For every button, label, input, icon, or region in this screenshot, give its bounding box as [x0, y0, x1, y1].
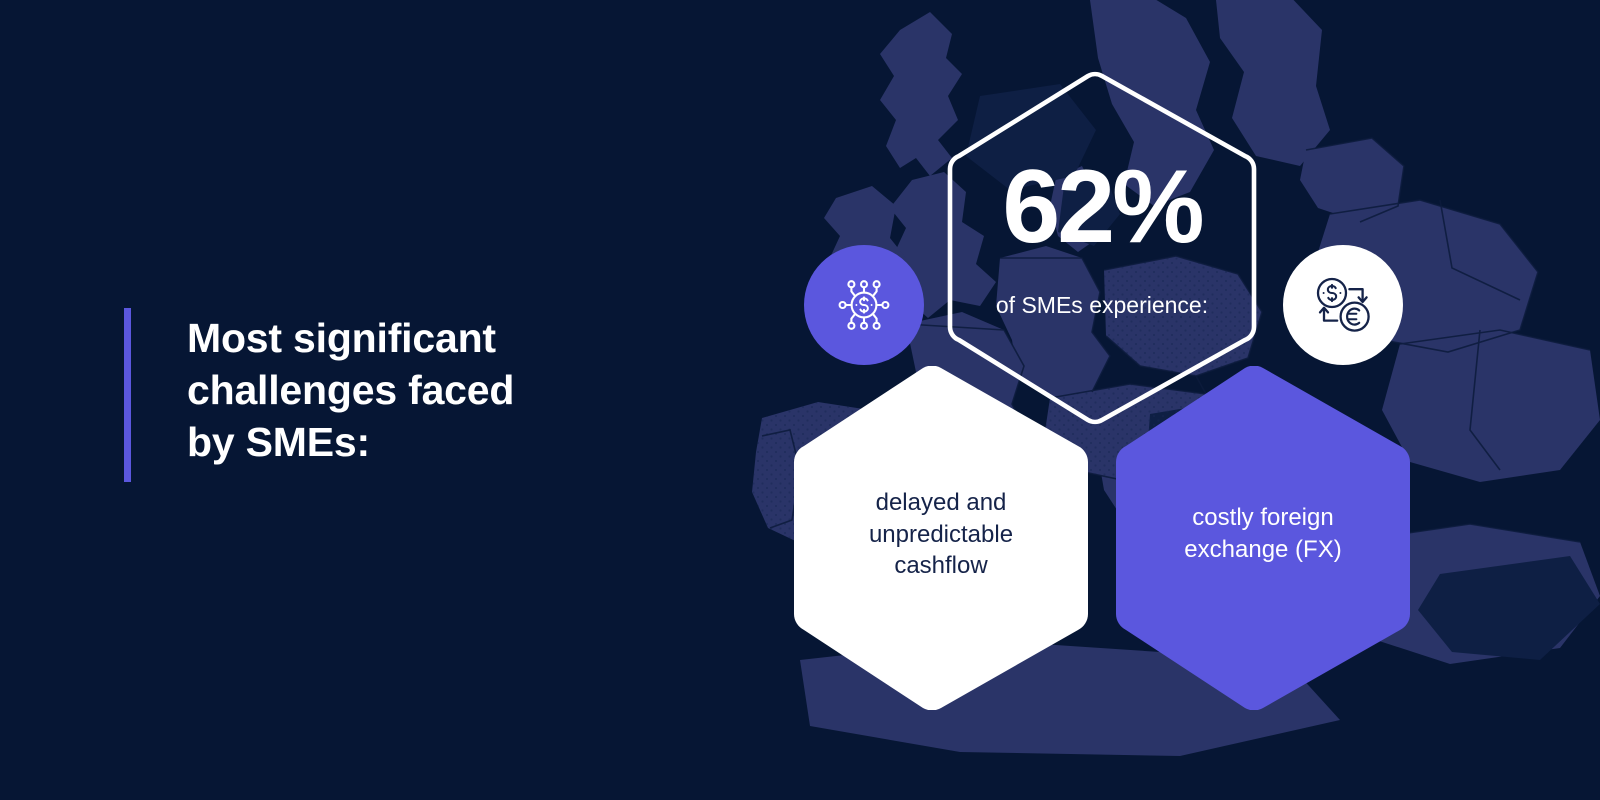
currency-exchange-icon-circle: [1283, 245, 1403, 365]
challenge-label-fx: costly foreign exchange (FX): [1112, 502, 1414, 565]
infographic-canvas: Most significant challenges faced by SME…: [0, 0, 1600, 800]
challenge-label-cashflow: delayed and unpredictable cashflow: [790, 487, 1092, 582]
challenge-hexagon-fx: costly foreign exchange (FX): [1112, 366, 1414, 710]
stat-caption: of SMEs experience:: [944, 292, 1260, 320]
money-network-icon: [831, 272, 897, 338]
stat-value: 62%: [944, 155, 1260, 259]
currency-exchange-icon: [1309, 271, 1377, 339]
money-network-icon-circle: [804, 245, 924, 365]
hexagon-cluster: 62% of SMEs experience: delayed and unpr…: [0, 0, 1600, 800]
challenge-hexagon-cashflow: delayed and unpredictable cashflow: [790, 366, 1092, 710]
